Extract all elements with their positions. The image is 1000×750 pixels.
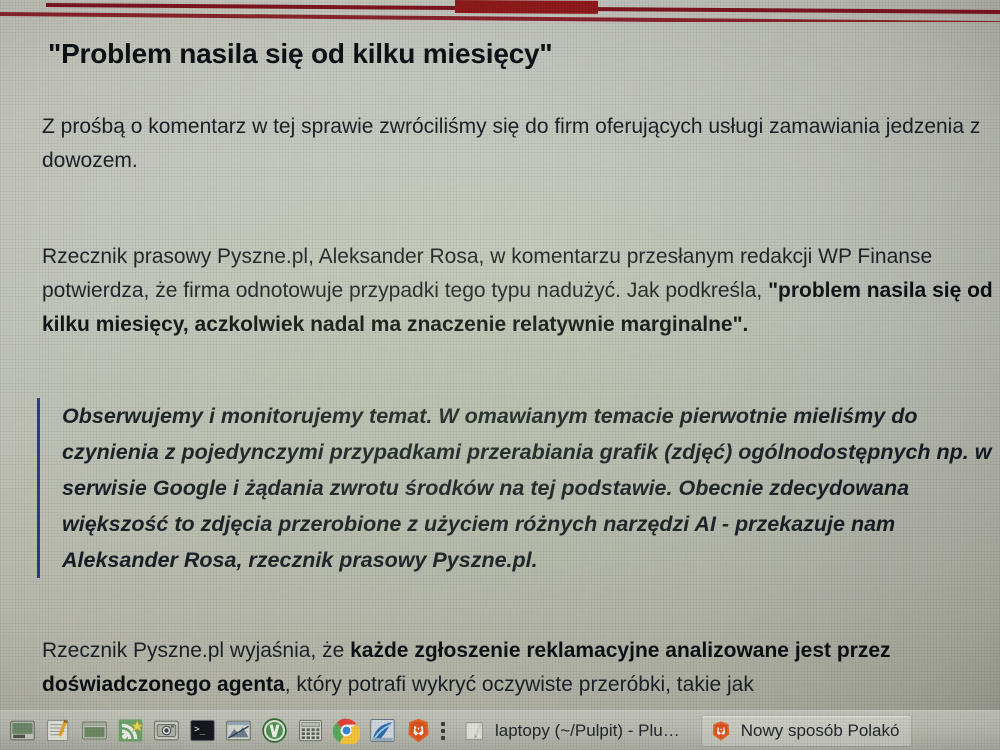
window-button-brave[interactable]: Nowy sposób Polakó — [702, 716, 912, 746]
vim-icon — [261, 717, 288, 744]
file-manager-icon — [81, 717, 108, 744]
window-button-editor-label: laptopy (~/Pulpit) - Plu… — [495, 721, 680, 741]
page-title: "Problem nasila się od kilku miesięcy" — [48, 38, 948, 70]
paragraph-intro: Z prośbą o komentarz w tej sprawie zwróc… — [42, 110, 1000, 178]
launcher-rss-reader[interactable] — [112, 713, 148, 749]
launcher-calculator[interactable] — [292, 713, 328, 749]
window-button-brave-label: Nowy sposób Polakó — [741, 721, 900, 741]
paragraph-tail-lead: Rzecznik Pyszne.pl wyjaśnia, że — [42, 639, 350, 662]
brave-icon — [710, 720, 732, 742]
launcher-image-viewer[interactable] — [220, 713, 256, 749]
chrome-icon — [333, 717, 360, 744]
taskbar: >_ — [0, 710, 1000, 750]
dot — [441, 736, 445, 740]
launcher-brave[interactable] — [400, 713, 436, 749]
paragraph-statement: Rzecznik prasowy Pyszne.pl, Aleksander R… — [42, 240, 1000, 342]
launcher-show-desktop[interactable] — [4, 713, 40, 749]
calculator-icon — [297, 717, 324, 744]
show-desktop-icon — [9, 717, 36, 744]
terminal-icon: >_ — [189, 717, 216, 744]
paragraph-tail-rest: , który potrafi wykryć oczywiste przerób… — [285, 673, 754, 696]
launcher-file-manager[interactable] — [76, 713, 112, 749]
launcher-blue-app[interactable] — [364, 713, 400, 749]
brave-icon — [405, 717, 432, 744]
launcher-text-editor[interactable] — [40, 713, 76, 749]
image-viewer-icon — [225, 717, 252, 744]
taskbar-overflow-menu[interactable] — [436, 713, 450, 749]
window-button-editor[interactable]: laptopy (~/Pulpit) - Plu… — [456, 716, 692, 746]
screenshot-icon — [153, 717, 180, 744]
pull-quote: Obserwujemy i monitorujemy temat. W omaw… — [37, 398, 1000, 578]
paragraph-tail: Rzecznik Pyszne.pl wyjaśnia, że każde zg… — [42, 634, 1000, 702]
dot — [441, 722, 445, 726]
launcher-chrome[interactable] — [328, 713, 364, 749]
launcher-screenshot[interactable] — [148, 713, 184, 749]
svg-text:>_: >_ — [194, 724, 206, 735]
launcher-vim[interactable] — [256, 713, 292, 749]
top-rule-lower — [0, 12, 1000, 22]
monitor-screen-photo: "Problem nasila się od kilku miesięcy" Z… — [0, 0, 1000, 750]
blue-app-icon — [369, 717, 396, 744]
rss-reader-icon — [117, 717, 144, 744]
text-editor-icon — [464, 720, 486, 742]
top-rule-block — [455, 0, 598, 14]
launcher-terminal[interactable]: >_ — [184, 713, 220, 749]
text-editor-icon — [45, 717, 72, 744]
article-body: "Problem nasila się od kilku miesięcy" Z… — [0, 22, 1000, 712]
site-top-rule — [0, 0, 1000, 22]
dot — [441, 729, 445, 733]
